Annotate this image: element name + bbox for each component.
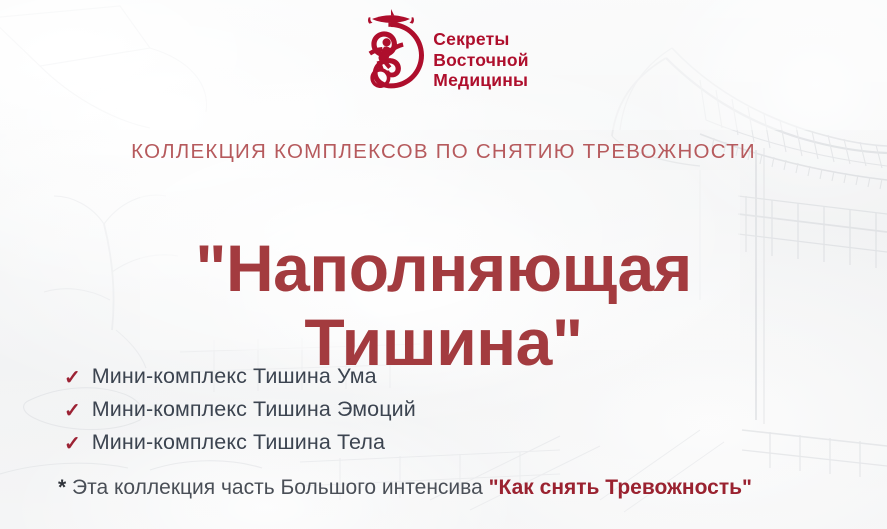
list-item-label: Мини-комплекс Тишина Ума	[92, 364, 377, 389]
brand-name-line-1: Секреты	[433, 29, 528, 49]
brand-logo: Секреты Восточной Медицины	[0, 6, 887, 96]
check-icon: ✓	[64, 434, 81, 454]
collection-eyebrow: КОЛЛЕКЦИЯ КОМПЛЕКСОВ ПО СНЯТИЮ ТРЕВОЖНОС…	[0, 140, 887, 164]
brand-name-line-2: Восточной	[433, 50, 528, 70]
footnote-asterisk: *	[58, 476, 66, 499]
feature-list: ✓ Мини-комплекс Тишина Ума ✓ Мини-компле…	[64, 364, 416, 463]
list-item: ✓ Мини-комплекс Тишина Ума	[64, 364, 416, 397]
page-title-line-1: "Наполняющая	[0, 232, 887, 306]
page-title: "Наполняющая Тишина"	[0, 232, 887, 380]
presentation-slide: Секреты Восточной Медицины КОЛЛЕКЦИЯ КОМ…	[0, 0, 887, 529]
list-item: ✓ Мини-комплекс Тишина Эмоций	[64, 397, 416, 430]
eastern-medicine-pagoda-figure-logo-icon	[358, 6, 424, 96]
list-item: ✓ Мини-комплекс Тишина Тела	[64, 430, 416, 463]
check-icon: ✓	[64, 368, 81, 388]
footnote-text: Эта коллекция часть Большого интенсива	[66, 476, 488, 499]
list-item-label: Мини-комплекс Тишина Тела	[92, 430, 385, 455]
footnote-intensive-title: "Как снять Тревожность"	[489, 476, 752, 499]
check-icon: ✓	[64, 401, 81, 421]
list-item-label: Мини-комплекс Тишина Эмоций	[92, 397, 416, 422]
slide-content: Секреты Восточной Медицины КОЛЛЕКЦИЯ КОМ…	[0, 0, 887, 529]
brand-wordmark: Секреты Восточной Медицины	[433, 11, 528, 90]
footnote: * Эта коллекция часть Большого интенсива…	[58, 476, 752, 500]
brand-name-line-3: Медицины	[433, 70, 528, 90]
